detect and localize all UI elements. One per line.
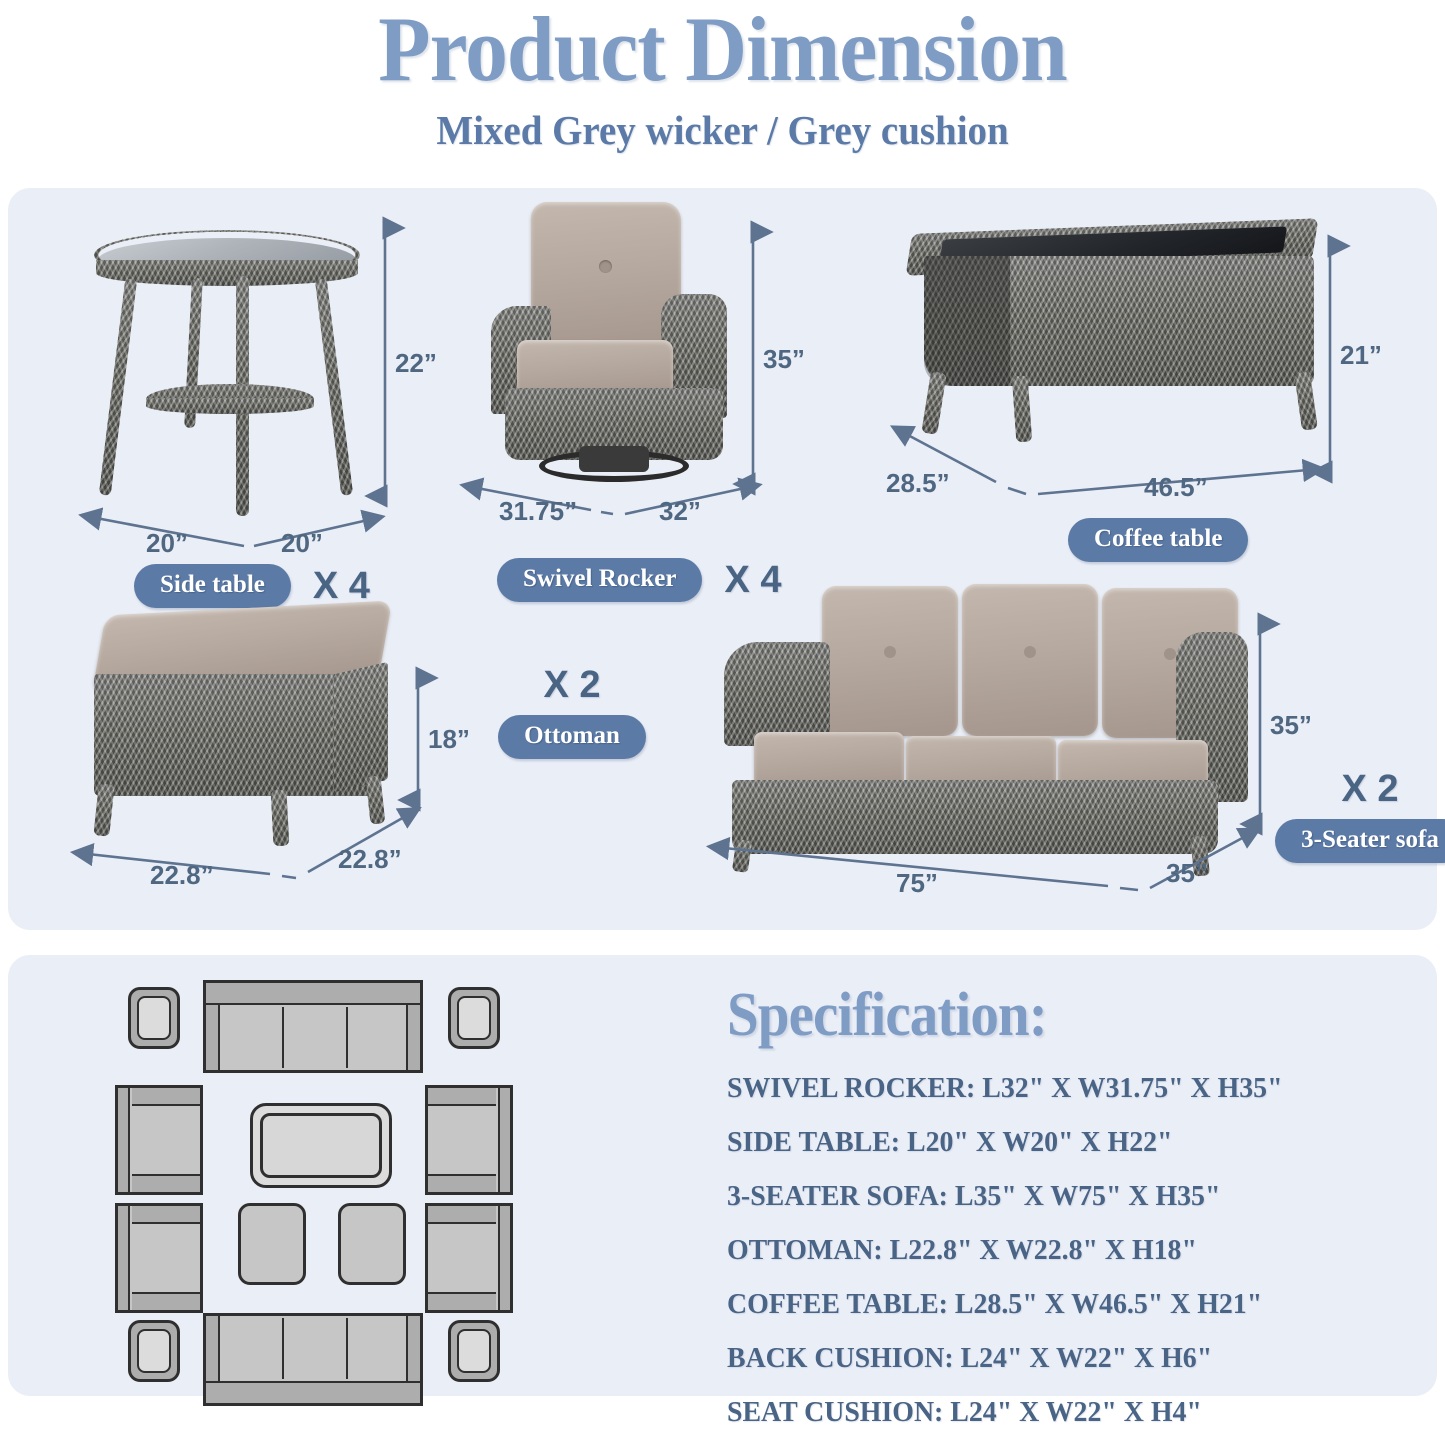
page-subtitle: Mixed Grey wicker / Grey cushion [36,106,1409,154]
product-side-table: 22” 20” 20” Side table X 4 [68,198,428,578]
diagram-side-table [448,1320,500,1382]
coffee-table-dim-right: 46.5” [1144,472,1208,503]
page-title: Product Dimension [51,4,1395,94]
ottoman-dim-right: 22.8” [338,844,402,875]
swivel-rocker-dim-right: 32” [659,496,701,527]
spec-line-coffee-table: COFFEE TABLE: L28.5" X W46.5" X H21" [727,1288,1399,1321]
diagram-three-seater-sofa [203,980,423,1073]
diagram-swivel-rocker [115,1085,203,1195]
coffee-table-label: Coffee table [1068,518,1248,562]
spec-line-three-seater-sofa: 3-SEATER SOFA: L35" X W75" X H35" [727,1180,1399,1213]
diagram-coffee-table [250,1103,392,1188]
diagram-swivel-rocker [425,1085,513,1195]
three-seater-sofa-dim-left: 75” [896,868,938,899]
product-ottoman: 18” 22.8” 22.8” X 2 Ottoman [68,588,628,908]
spec-line-swivel-rocker: SWIVEL ROCKER: L32" X W31.75" X H35" [727,1072,1399,1105]
diagram-swivel-rocker [425,1203,513,1313]
diagram-three-seater-sofa [203,1313,423,1406]
diagram-ottoman [338,1203,406,1285]
side-table-dim-right: 20” [281,528,323,559]
ottoman-label: Ottoman [498,715,646,759]
product-three-seater-sofa: 35” 75” 35” X 2 3-Seater sofa [698,568,1438,918]
coffee-table-illustration [902,226,1322,466]
swivel-rocker-dim-left: 31.75” [499,496,577,527]
diagram-side-table [448,987,500,1049]
three-seater-sofa-label: 3-Seater sofa [1275,819,1445,863]
diagram-side-table [128,987,180,1049]
product-coffee-table: 21” 28.5” 46.5” Coffee table [878,222,1348,582]
ottoman-dim-left: 22.8” [150,860,214,891]
ottoman-dim-height: 18” [428,724,470,755]
spec-line-ottoman: OTTOMAN: L22.8" X W22.8" X H18" [727,1234,1399,1267]
spec-line-back-cushion: BACK CUSHION: L24" X W22" X H6" [727,1342,1399,1375]
diagram-ottoman [238,1203,306,1285]
side-table-dim-height: 22” [395,348,437,379]
ottoman-multiplier: X 2 [472,664,672,707]
swivel-rocker-dim-height: 35” [763,344,805,375]
side-table-dim-left: 20” [146,528,188,559]
product-swivel-rocker: 35” 31.75” 32” Swivel Rocker X 4 [463,192,823,582]
coffee-table-dim-left: 28.5” [886,468,950,499]
page-header: Product Dimension Mixed Grey wicker / Gr… [0,0,1445,154]
diagram-swivel-rocker [115,1203,203,1313]
specification-title: Specification: [727,980,1371,1051]
swivel-rocker-illustration [483,198,733,498]
side-table-illustration [88,216,368,516]
spec-line-side-table: SIDE TABLE: L20" X W20" X H22" [727,1126,1399,1159]
products-panel: 22” 20” 20” Side table X 4 [8,188,1437,930]
specification-section: Specification: SWIVEL ROCKER: L32" X W31… [727,980,1427,1429]
ottoman-illustration [82,608,412,858]
coffee-table-dim-height: 21” [1340,340,1382,371]
three-seater-sofa-dim-right: 35” [1166,858,1208,889]
furniture-arrangement-diagram [110,975,710,1375]
three-seater-sofa-multiplier: X 2 [1270,768,1445,811]
three-seater-sofa-dim-height: 35” [1270,710,1312,741]
three-seater-sofa-illustration [718,584,1248,854]
spec-line-seat-cushion: SEAT CUSHION: L24" X W22" X H4" [727,1396,1399,1429]
diagram-side-table [128,1320,180,1382]
